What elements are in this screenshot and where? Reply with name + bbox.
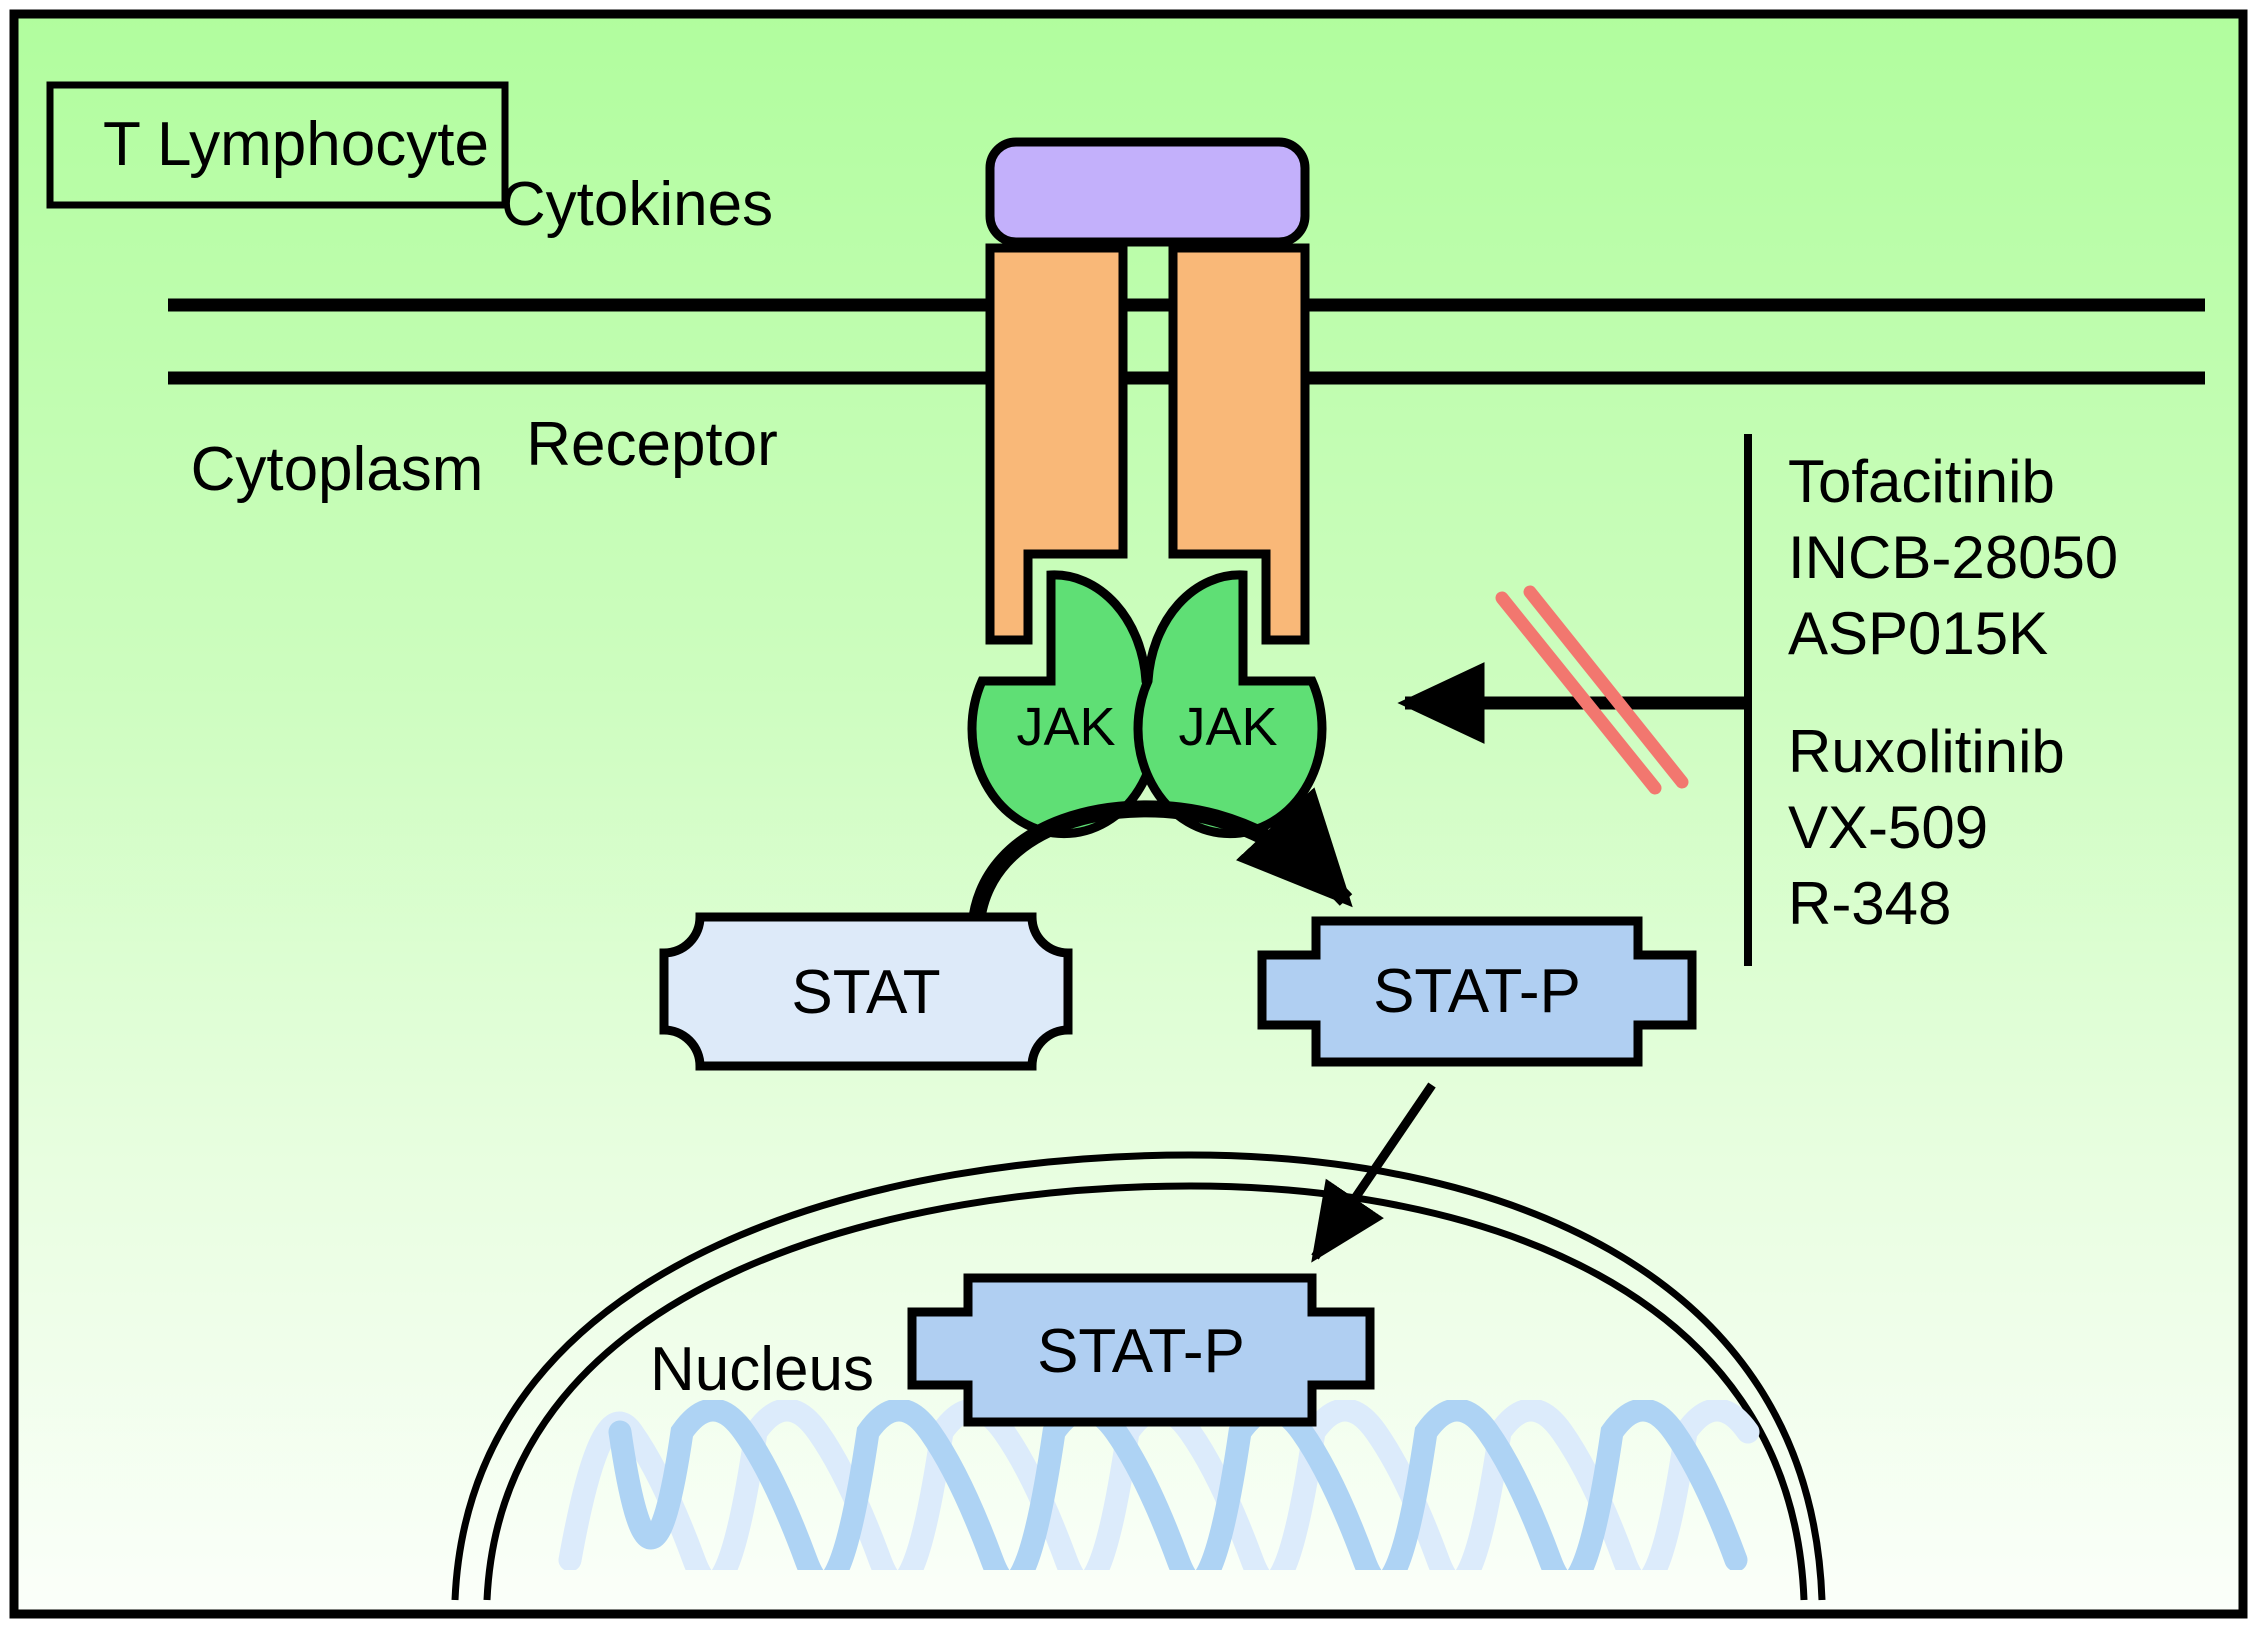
cytokines-label: Cytokines [501,170,773,239]
jak-left-label: JAK [1016,697,1115,757]
inhibitor-group1-item-1: INCB-28050 [1788,524,2118,591]
stat-p-cytoplasm-label: STAT-P [1373,957,1581,1026]
inhibitor-group1-item-0: Tofacitinib [1788,448,2055,515]
cell-type-label: T Lymphocyte [103,110,489,179]
inhibitor-group2-item-0: Ruxolitinib [1788,718,2065,785]
jak-right-label: JAK [1178,697,1277,757]
nucleus-label: Nucleus [650,1335,874,1404]
inhibitor-group2-item-1: VX-509 [1788,794,1988,861]
stat-label: STAT [791,958,940,1027]
inhibitor-group1-item-2: ASP015K [1788,600,2048,667]
figure-canvas: T Lymphocyte Cytokines Receptor Cytoplas… [0,0,2257,1639]
stat-p-nucleus-label: STAT-P [1037,1317,1245,1386]
cytoplasm-label: Cytoplasm [191,435,484,504]
cytokine-shape [990,142,1305,242]
receptor-label: Receptor [526,410,778,479]
inhibitor-group2-item-2: R-348 [1788,870,1951,937]
pathway-diagram: T Lymphocyte Cytokines Receptor Cytoplas… [0,0,2257,1639]
